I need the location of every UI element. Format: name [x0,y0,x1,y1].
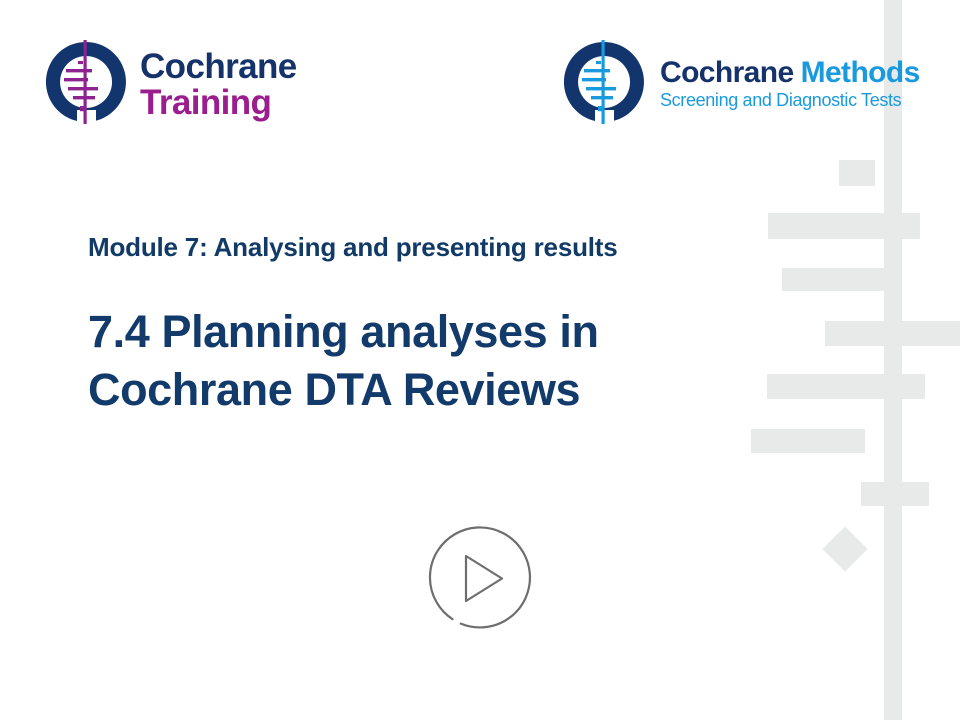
forest-plot-bar [839,160,875,186]
logo-word-methods: Methods [801,56,920,89]
title-block: Module 7: Analysing and presenting resul… [88,232,808,418]
forest-plot-bar [861,482,929,506]
cochrane-training-wordmark: Cochrane Training [140,49,297,120]
forest-plot-summary-diamond [822,526,867,571]
slide-canvas: Cochrane Training CochraneMethods Screen… [0,0,960,720]
logo-line-cochrane: Cochrane [140,49,297,85]
logo-title-row: CochraneMethods [660,58,920,89]
cochrane-logo-mark-icon [562,36,646,133]
module-label: Module 7: Analysing and presenting resul… [88,232,808,263]
cochrane-training-logo: Cochrane Training [44,36,297,133]
forest-plot-bar [751,429,865,453]
forest-plot-bar [825,321,960,346]
logo-word-cochrane: Cochrane [660,56,794,89]
page-title: 7.4 Planning analyses in Cochrane DTA Re… [88,303,808,418]
logo-line-training: Training [140,85,297,121]
cochrane-methods-logo: CochraneMethods Screening and Diagnostic… [562,36,920,133]
cochrane-methods-wordmark: CochraneMethods Screening and Diagnostic… [660,58,920,111]
logo-subtitle: Screening and Diagnostic Tests [660,90,920,111]
cochrane-logo-mark-icon [44,36,128,133]
play-video-button[interactable] [422,522,534,634]
